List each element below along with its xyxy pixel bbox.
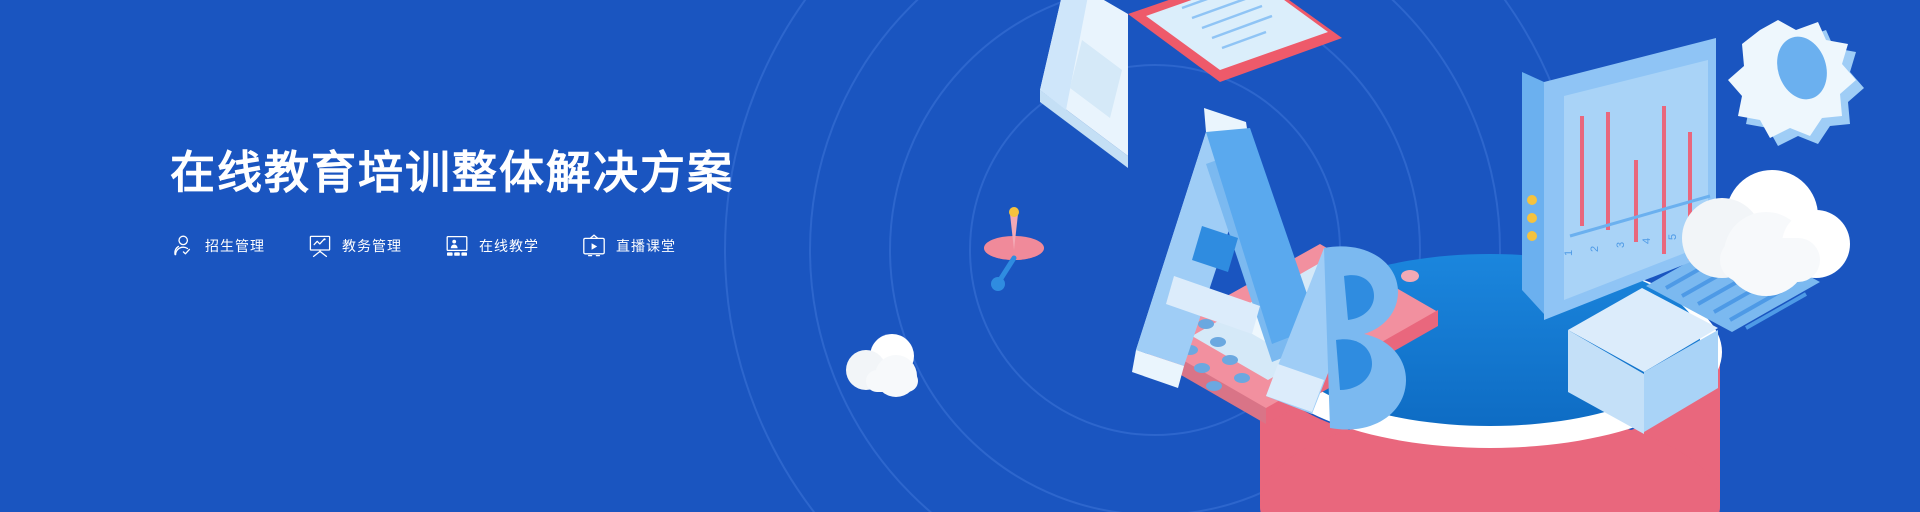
svg-text:5: 5 bbox=[1667, 234, 1679, 240]
hero-copy: 在线教育培训整体解决方案 招生管理 bbox=[170, 148, 1070, 259]
chart-monitor: 1 2 3 4 5 6 bbox=[1522, 38, 1716, 320]
letter-b-3d bbox=[1266, 246, 1406, 429]
gear-icon bbox=[1728, 20, 1864, 146]
cylinder-platform bbox=[1258, 254, 1722, 512]
feature-label: 直播课堂 bbox=[616, 233, 676, 259]
cloud-large bbox=[1682, 170, 1850, 296]
tablet-device bbox=[1148, 244, 1438, 424]
stack-blocks bbox=[1568, 236, 1820, 434]
feature-item-online-teaching[interactable]: 在线教学 bbox=[444, 233, 539, 259]
letter-a-3d bbox=[1132, 108, 1318, 388]
hero-banner: 在线教育培训整体解决方案 招生管理 bbox=[0, 0, 1920, 512]
feature-label: 教务管理 bbox=[342, 233, 402, 259]
svg-text:4: 4 bbox=[1641, 238, 1653, 244]
svg-text:6: 6 bbox=[1693, 230, 1705, 236]
page-title: 在线教育培训整体解决方案 bbox=[170, 148, 1070, 198]
hero-illustration: 1 2 3 4 5 6 bbox=[960, 0, 1920, 512]
feature-item-academic[interactable]: 教务管理 bbox=[307, 233, 402, 259]
classroom-icon bbox=[444, 233, 470, 259]
svg-text:3: 3 bbox=[1615, 242, 1627, 248]
chart-board-icon bbox=[307, 233, 333, 259]
feature-label: 在线教学 bbox=[479, 233, 539, 259]
cloud-small-left bbox=[840, 330, 940, 400]
user-check-icon bbox=[170, 233, 196, 259]
feature-list: 招生管理 教务管理 bbox=[170, 233, 1070, 259]
open-book bbox=[1040, 0, 1342, 168]
feature-label: 招生管理 bbox=[205, 233, 265, 259]
svg-text:2: 2 bbox=[1589, 246, 1601, 252]
feature-item-live-class[interactable]: 直播课堂 bbox=[581, 233, 676, 259]
svg-text:1: 1 bbox=[1563, 250, 1575, 256]
feature-item-enrollment[interactable]: 招生管理 bbox=[170, 233, 265, 259]
tv-play-icon bbox=[581, 233, 607, 259]
